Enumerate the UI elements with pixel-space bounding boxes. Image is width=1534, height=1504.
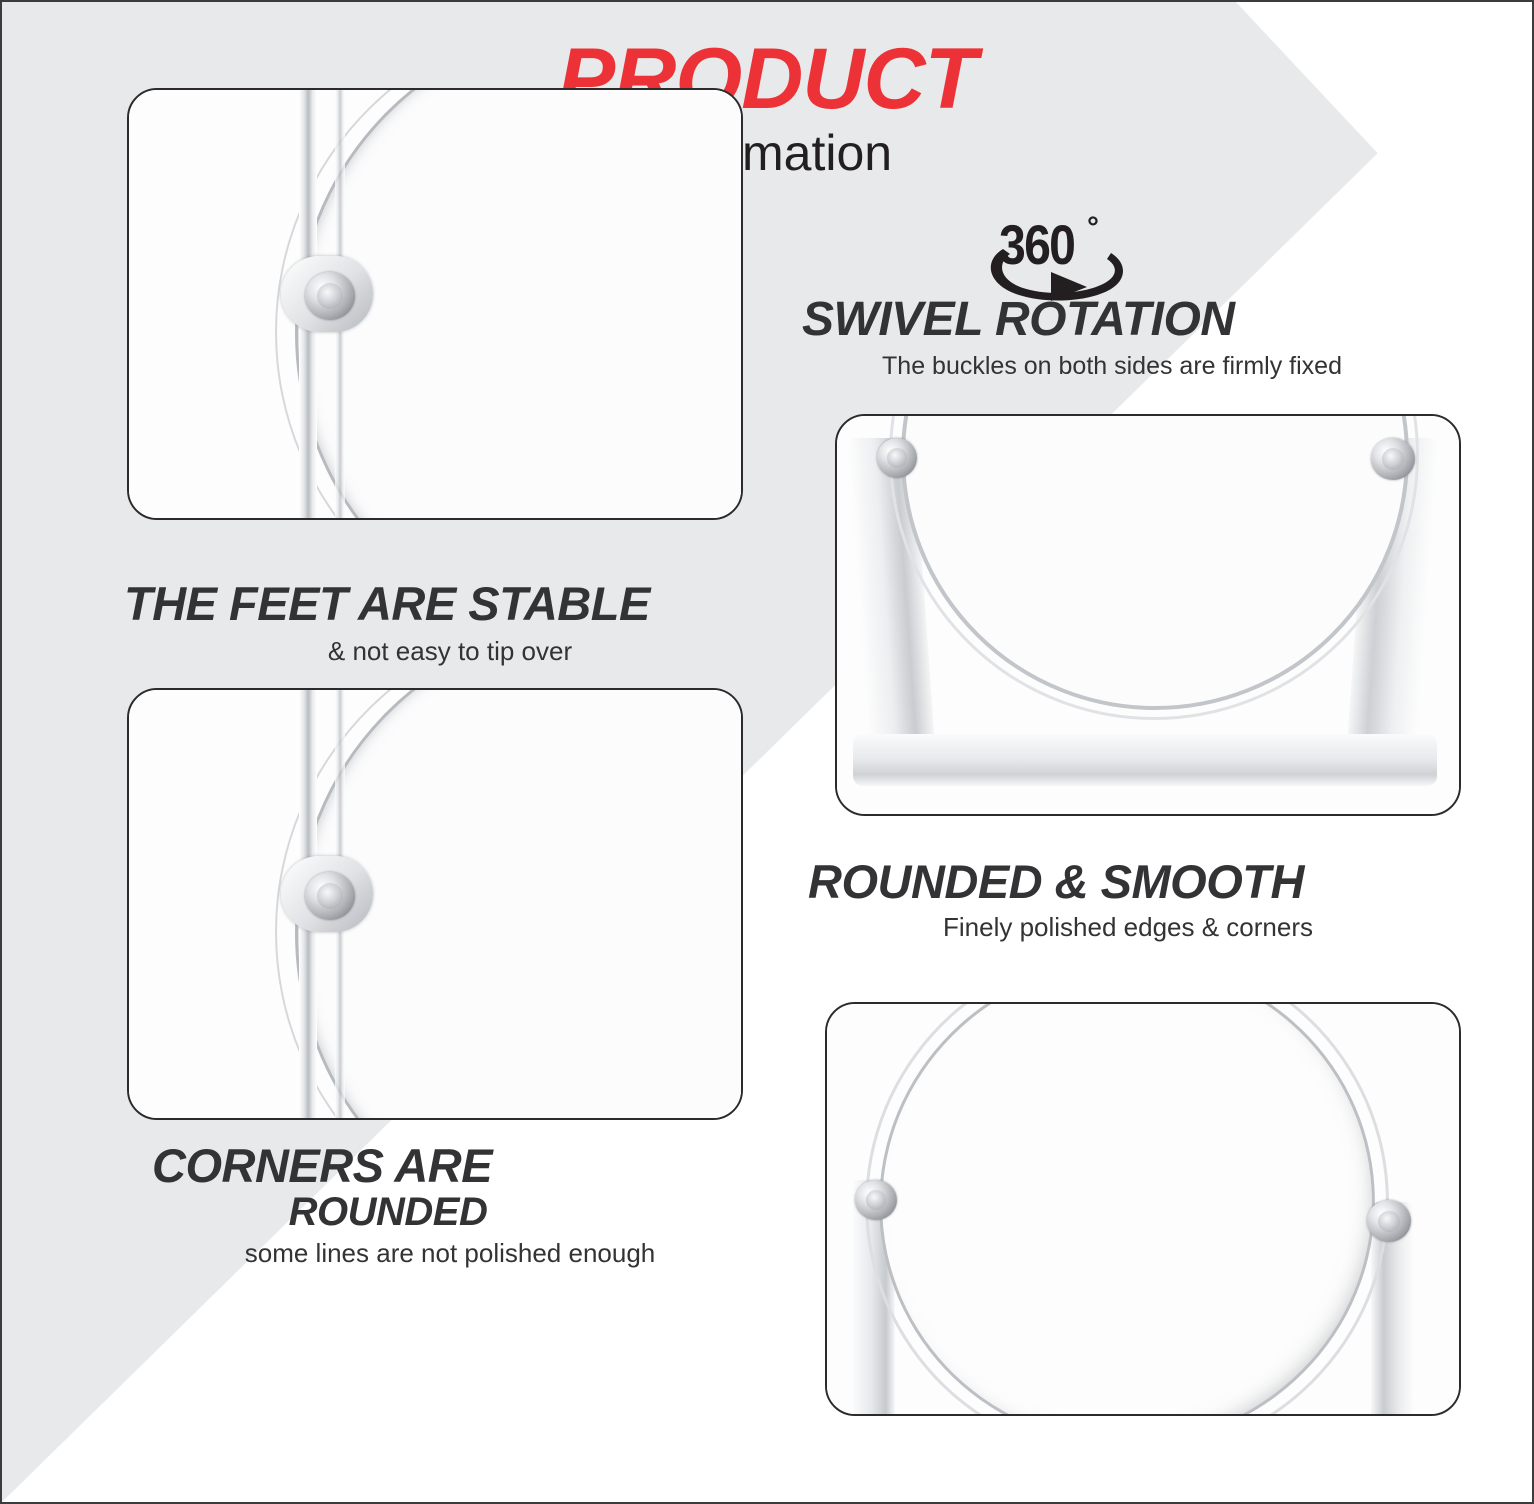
pivot-screw-left (855, 1180, 897, 1220)
product-information-infographic: PRODUCT Information 360 ° SWIVEL ROTATIO… (0, 0, 1534, 1504)
badge-degree-symbol: ° (1087, 213, 1099, 243)
pivot-screw-left (877, 438, 917, 478)
photo-swivel-joint-closeup-top (127, 88, 743, 520)
subline-rounded-smooth: Finely polished edges & corners (808, 914, 1448, 940)
subline-corners-rounded: some lines are not polished enough (124, 1240, 776, 1266)
pivot-screw-left-core (866, 1190, 886, 1210)
pivot-screw-right (1371, 438, 1415, 480)
pivot-screw-left-core (887, 448, 907, 468)
headline-corners-rounded-line2: ROUNDED (152, 1192, 624, 1232)
photo-tilted-round-mirror (825, 1002, 1461, 1416)
pivot-screw (305, 272, 355, 320)
photo-swivel-joint-closeup-bottom (127, 688, 743, 1120)
subline-swivel-rotation: The buckles on both sides are firmly fix… (802, 354, 1422, 379)
headline-corners-rounded-line1: CORNERS ARE (152, 1142, 492, 1189)
badge-number: 360 (999, 217, 1074, 273)
stand-base (853, 734, 1437, 786)
pivot-screw-right-core (1378, 1211, 1400, 1232)
headline-rounded-smooth: ROUNDED & SMOOTH (808, 858, 1304, 905)
pivot-screw-right (1367, 1200, 1411, 1242)
photo-mirror-in-stand-full-view (835, 414, 1461, 816)
pivot-screw-core (317, 883, 343, 909)
pivot-screw-right-core (1382, 448, 1404, 470)
pivot-screw (305, 872, 355, 920)
mirror-rim-outer (828, 1002, 1426, 1416)
pivot-screw-core (317, 283, 343, 309)
subline-feet-stable: & not easy to tip over (124, 638, 776, 664)
headline-feet-stable: THE FEET ARE STABLE (124, 580, 650, 627)
headline-swivel-rotation: SWIVEL ROTATION (802, 296, 1235, 344)
